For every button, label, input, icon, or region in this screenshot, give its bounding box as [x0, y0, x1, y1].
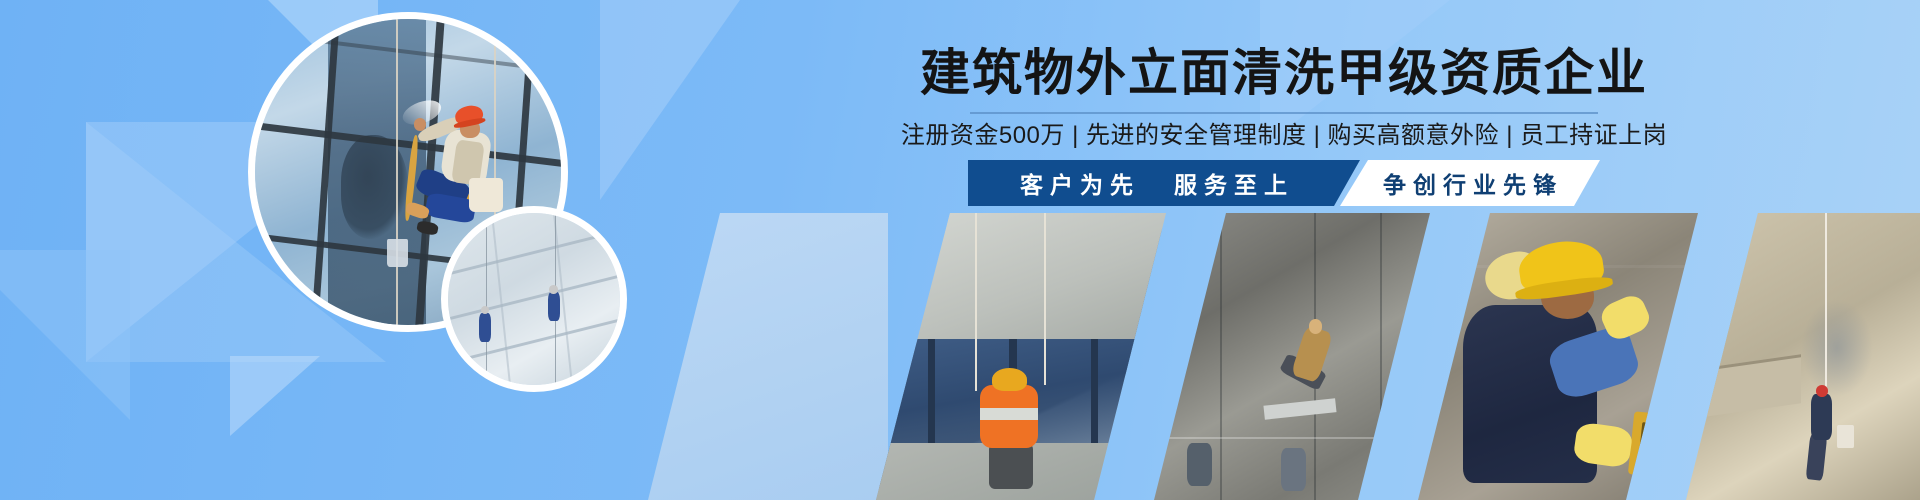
- closeup-worker-yellow-helmet-icon: [1516, 236, 1606, 296]
- slogan-bar: 客户为先 服务至上 争创行业先锋: [648, 160, 1920, 206]
- light-facade-photo: [448, 213, 620, 385]
- concrete-rope-1: [1220, 213, 1222, 500]
- facade-worker-1-body: [479, 313, 491, 342]
- facade-worker-2-body: [548, 292, 560, 321]
- concrete-worker-2: [1187, 443, 1212, 486]
- building-upper-wall: [876, 213, 1166, 339]
- building-texture: [876, 213, 1166, 500]
- concrete-platform: [1264, 399, 1337, 421]
- slogan-text-3: 争创行业先锋: [1377, 166, 1563, 200]
- facade-rope-1: [486, 213, 487, 385]
- concrete-worker-3: [1281, 448, 1306, 491]
- balcony-worker-body: [1811, 394, 1833, 440]
- balcony-worker-bucket: [1837, 425, 1854, 448]
- triangle-decoration-4: [230, 356, 320, 436]
- headline-divider: [970, 112, 1598, 114]
- strip-panel-window-cleaning: [876, 213, 1166, 500]
- balcony-worker-red-cap-icon: [1816, 385, 1828, 396]
- worker-seat-bucket: [469, 178, 503, 212]
- strip-panel-balcony: [1686, 213, 1920, 500]
- window-worker-legs: [989, 443, 1033, 489]
- sky-texture: [648, 213, 888, 500]
- slogan-blue-block: 客户为先 服务至上: [968, 160, 1360, 206]
- slogan-white-block: 争创行业先锋: [1340, 160, 1600, 206]
- window-worker-vest-stripe: [980, 408, 1038, 419]
- closeup-worker-trowel: [1628, 411, 1690, 480]
- concrete-seam: [1154, 437, 1430, 439]
- strip-panel-worker-closeup: [1418, 213, 1698, 500]
- triangle-decoration-6: [0, 250, 130, 420]
- banner-headline: 建筑物外立面清洗甲级资质企业: [648, 48, 1920, 98]
- balcony-building-texture: [1686, 213, 1920, 500]
- photo-strip: [648, 213, 1920, 500]
- safety-rope-1: [396, 19, 398, 325]
- promo-banner: 建筑物外立面清洗甲级资质企业 注册资金500万 | 先进的安全管理制度 | 购买…: [0, 0, 1920, 500]
- window-rope-1: [975, 213, 977, 391]
- window-worker-yellow-helmet-icon: [992, 368, 1027, 391]
- strip-panel-sky: [648, 213, 888, 500]
- wall-texture: [1418, 213, 1698, 500]
- slogan-text-2: 服务至上: [1174, 166, 1294, 200]
- concrete-worker-1-head: [1309, 319, 1323, 333]
- strip-panel-concrete-wall: [1154, 213, 1430, 500]
- slogan-text-1: 客户为先: [1020, 166, 1140, 200]
- circle-photo-secondary: [441, 206, 627, 392]
- light-facade: [448, 213, 620, 385]
- banner-subline: 注册资金500万 | 先进的安全管理制度 | 购买高额意外险 | 员工持证上岗: [648, 124, 1920, 148]
- worker-hand: [414, 118, 426, 130]
- balcony-wall-stain: [1801, 299, 1873, 397]
- facade-worker-2-head: [549, 285, 558, 294]
- concrete-worker-1-body: [1290, 325, 1332, 383]
- concrete-rope-3: [1380, 213, 1382, 500]
- hanging-bucket: [387, 239, 408, 267]
- concrete-texture: [1154, 213, 1430, 500]
- window-rope-2: [1044, 213, 1046, 385]
- window-mullion-1: [928, 339, 935, 442]
- window-mullion-3: [1091, 339, 1098, 442]
- balcony-rope: [1825, 213, 1827, 391]
